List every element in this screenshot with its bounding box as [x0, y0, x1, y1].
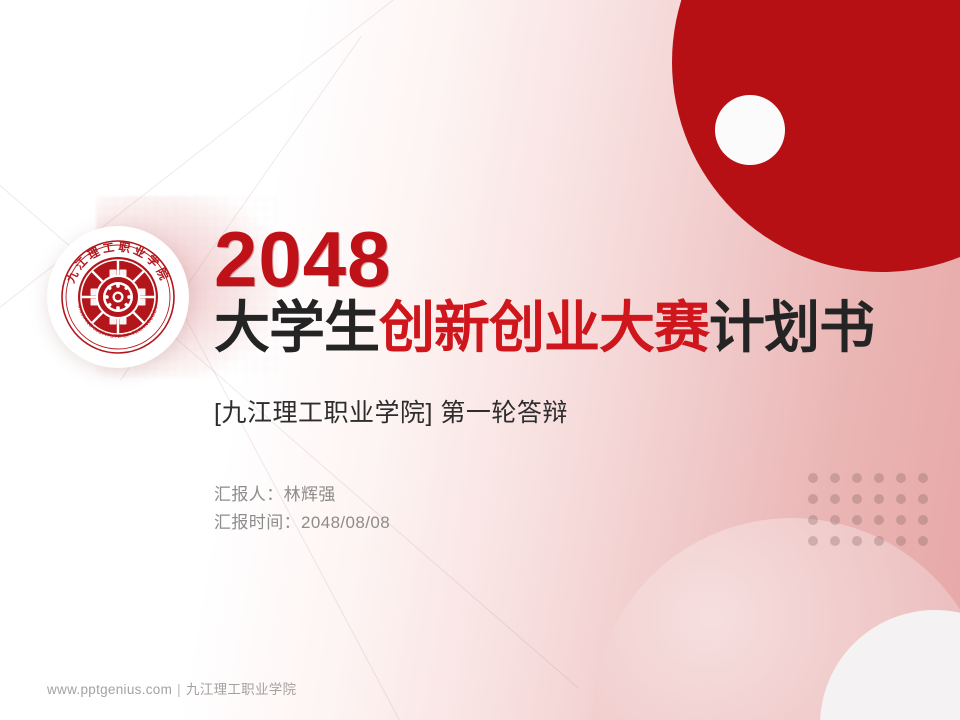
footer: www.pptgenius.com|九江理工职业学院 [47, 678, 296, 698]
university-emblem-icon: 九江理工职业学院 JIUJIANG INSTITUTE OF TECHNOLOG… [59, 238, 177, 356]
title-text-block: 2048 大学生创新创业大赛计划书 [九江理工职业学院] 第一轮答辩 汇报人：林… [214, 222, 914, 537]
grid-dot [874, 536, 884, 546]
white-circle-decoration-top [715, 95, 785, 165]
footer-separator: | [177, 682, 181, 697]
report-date-line: 汇报时间：2048/08/08 [214, 509, 914, 537]
grid-dot [852, 536, 862, 546]
grid-dot [918, 494, 928, 504]
university-logo: 九江理工职业学院 JIUJIANG INSTITUTE OF TECHNOLOG… [47, 226, 189, 368]
grid-dot [918, 515, 928, 525]
headline-segment-dark-2: 计划书 [709, 296, 874, 359]
grid-dot [808, 536, 818, 546]
headline-segment-dark-1: 大学生 [214, 296, 379, 359]
grid-dot [918, 473, 928, 483]
headline-segment-red: 创新创业大赛 [379, 296, 709, 359]
grid-dot [896, 536, 906, 546]
footer-organization: 九江理工职业学院 [186, 682, 296, 697]
subtitle: [九江理工职业学院] 第一轮答辩 [214, 393, 914, 429]
presentation-meta: 汇报人：林辉强 汇报时间：2048/08/08 [214, 481, 914, 537]
grid-dot [830, 536, 840, 546]
grid-dot [918, 536, 928, 546]
year-heading: 2048 [214, 222, 914, 296]
page-title: 大学生创新创业大赛计划书 [214, 298, 914, 358]
title-slide: 九江理工职业学院 JIUJIANG INSTITUTE OF TECHNOLOG… [0, 0, 960, 720]
footer-website: www.pptgenius.com [47, 682, 172, 697]
presenter-line: 汇报人：林辉强 [214, 481, 914, 509]
